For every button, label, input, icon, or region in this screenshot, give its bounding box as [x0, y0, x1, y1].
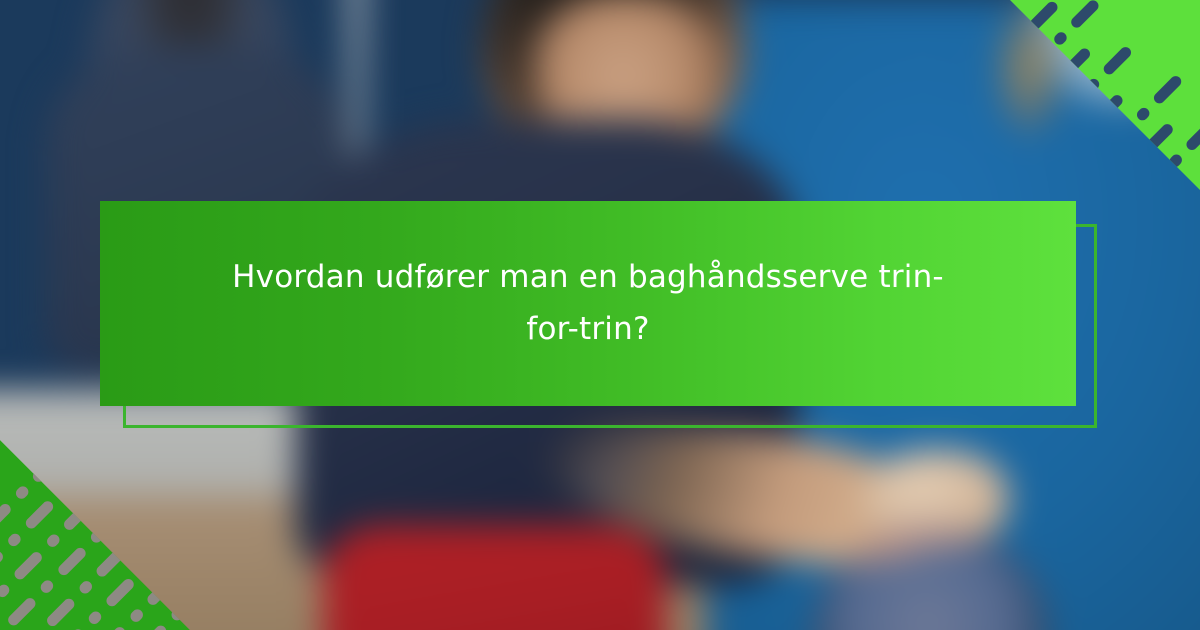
background-amber-blob [996, 0, 1062, 135]
page-title: Hvordan udfører man en baghåndsserve tri… [223, 252, 953, 354]
background-pole [349, 0, 365, 165]
hero-banner: Hvordan udfører man en baghåndsserve tri… [0, 0, 1200, 630]
title-card: Hvordan udfører man en baghåndsserve tri… [100, 201, 1076, 406]
player-shorts [323, 525, 666, 630]
